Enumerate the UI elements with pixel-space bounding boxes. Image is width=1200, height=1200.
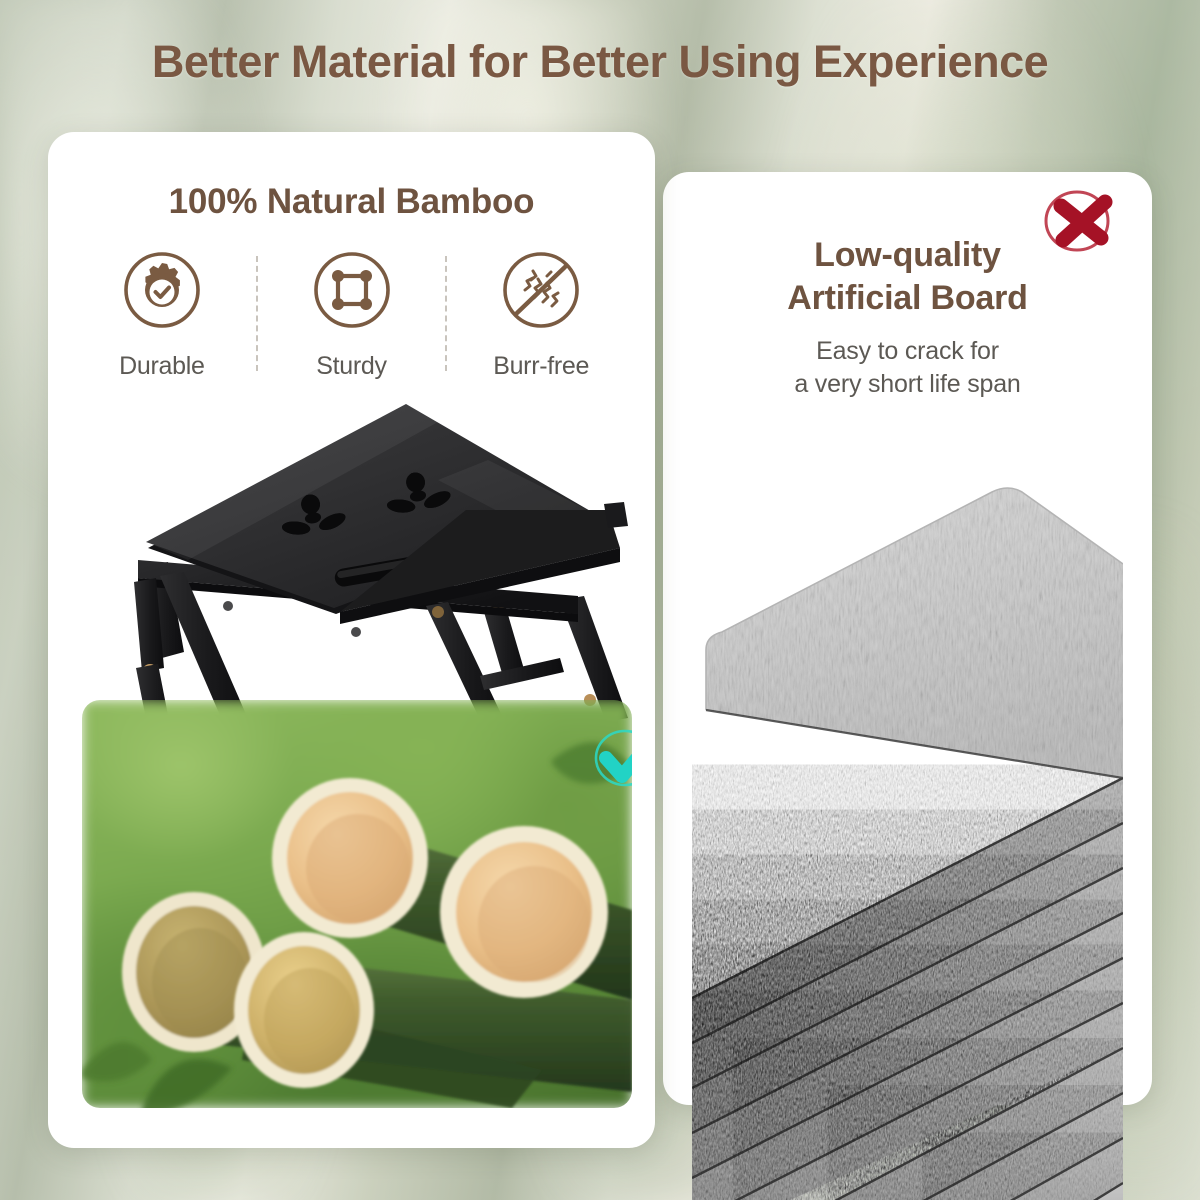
feature-sturdy: Sturdy	[258, 250, 446, 381]
artificial-board-card: Low-quality Artificial Board Easy to cra…	[663, 172, 1152, 1105]
feature-burr-free: Burr-free	[447, 250, 635, 381]
marketing-infographic: Better Material for Better Using Experie…	[0, 0, 1200, 1200]
x-badge	[1035, 180, 1127, 262]
gear-check-icon	[122, 250, 202, 330]
feature-durable: Durable	[68, 250, 256, 381]
gray-particle-board-stack-image	[692, 478, 1123, 1200]
feature-label: Burr-free	[493, 352, 589, 381]
page-title: Better Material for Better Using Experie…	[0, 36, 1200, 88]
cut-bamboo-culms-photo	[82, 700, 632, 1108]
right-card-subheading: Easy to crack for a very short life span	[663, 335, 1152, 401]
no-splinter-icon	[501, 250, 581, 330]
square-frame-icon	[312, 250, 392, 330]
check-badge	[588, 718, 632, 794]
feature-label: Sturdy	[316, 352, 386, 381]
natural-bamboo-card: 100% Natural Bamboo Durable	[48, 132, 655, 1148]
feature-list: Durable Sturdy	[68, 250, 635, 381]
left-card-heading: 100% Natural Bamboo	[48, 182, 655, 222]
feature-label: Durable	[119, 352, 204, 381]
